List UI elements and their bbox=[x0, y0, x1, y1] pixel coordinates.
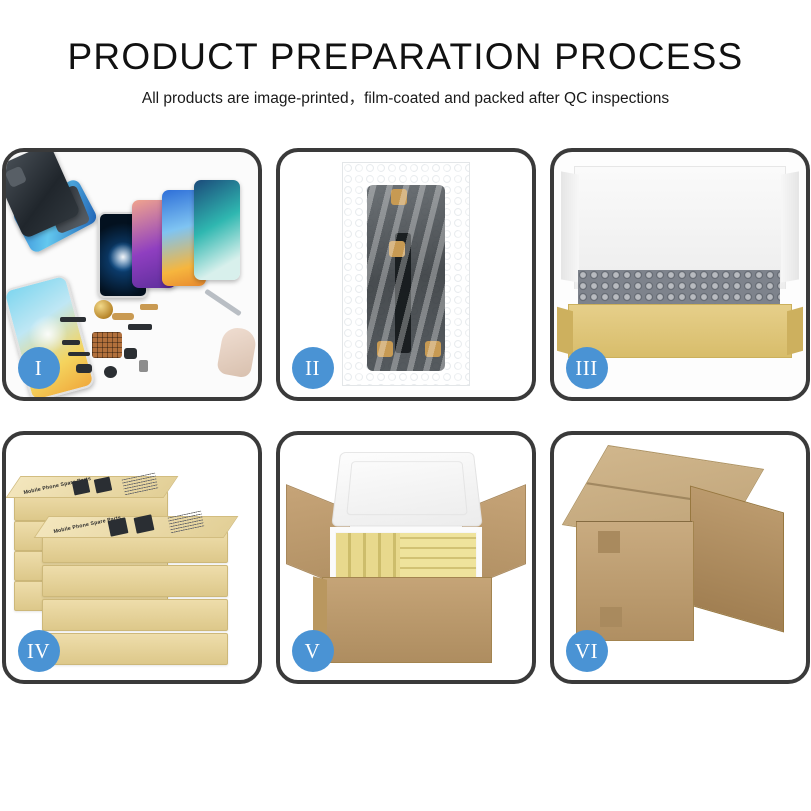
camera-part bbox=[139, 360, 148, 372]
carton-front-face bbox=[576, 521, 694, 641]
flex-cable-part bbox=[62, 340, 80, 345]
process-panel-5: V bbox=[276, 431, 536, 684]
carton-tape-patch bbox=[598, 531, 620, 553]
connector-part bbox=[76, 364, 92, 373]
process-panel-1: I bbox=[2, 148, 262, 401]
step-badge-2: II bbox=[292, 347, 334, 389]
step-badge-3: III bbox=[566, 347, 608, 389]
step-badge-5: V bbox=[292, 630, 334, 672]
bubble-wrap-bag bbox=[342, 162, 470, 386]
carton-tape-patch bbox=[600, 607, 622, 627]
flex-cable-part bbox=[60, 317, 86, 322]
connector-part bbox=[124, 348, 137, 359]
kraft-box-base bbox=[568, 304, 792, 358]
process-panel-2: II bbox=[276, 148, 536, 401]
foam-lid bbox=[331, 452, 482, 526]
hand bbox=[216, 325, 258, 378]
carton-seam bbox=[576, 521, 692, 522]
product-preparation-infographic: PRODUCT PREPARATION PROCESS All products… bbox=[0, 0, 811, 811]
carton-front bbox=[322, 577, 492, 663]
gold-contact-part bbox=[112, 313, 134, 320]
process-panel-grid: I II I bbox=[0, 148, 811, 684]
step-badge-6: VI bbox=[566, 630, 608, 672]
yellow-boxes-row bbox=[400, 533, 476, 577]
carton-side-face bbox=[690, 486, 784, 633]
step-badge-1: I bbox=[18, 347, 60, 389]
copper-coil-part bbox=[94, 300, 113, 319]
stacked-box: Mobile Phone Spare Parts bbox=[42, 531, 228, 563]
speaker-part bbox=[104, 366, 117, 378]
process-panel-6: VI bbox=[550, 431, 810, 684]
stacked-box bbox=[42, 565, 228, 597]
step-badge-4: IV bbox=[18, 630, 60, 672]
stacked-box bbox=[42, 633, 228, 665]
flex-cable-part bbox=[128, 324, 152, 330]
phone-teal bbox=[194, 180, 240, 280]
plastic-gloss-overlay bbox=[343, 163, 469, 385]
stacked-box bbox=[42, 599, 228, 631]
gold-contact-part bbox=[140, 304, 158, 310]
process-panel-3: III bbox=[550, 148, 810, 401]
tweezers-tool bbox=[204, 289, 242, 317]
page-subtitle: All products are image-printed，film-coat… bbox=[0, 86, 811, 108]
page-title: PRODUCT PREPARATION PROCESS bbox=[0, 38, 811, 77]
flex-cable-part bbox=[68, 352, 90, 356]
process-panel-4: Mobile Phone Spare Parts Mobile Phone Sp… bbox=[2, 431, 262, 684]
chip-array-part bbox=[92, 332, 122, 358]
header: PRODUCT PREPARATION PROCESS All products… bbox=[0, 0, 811, 108]
